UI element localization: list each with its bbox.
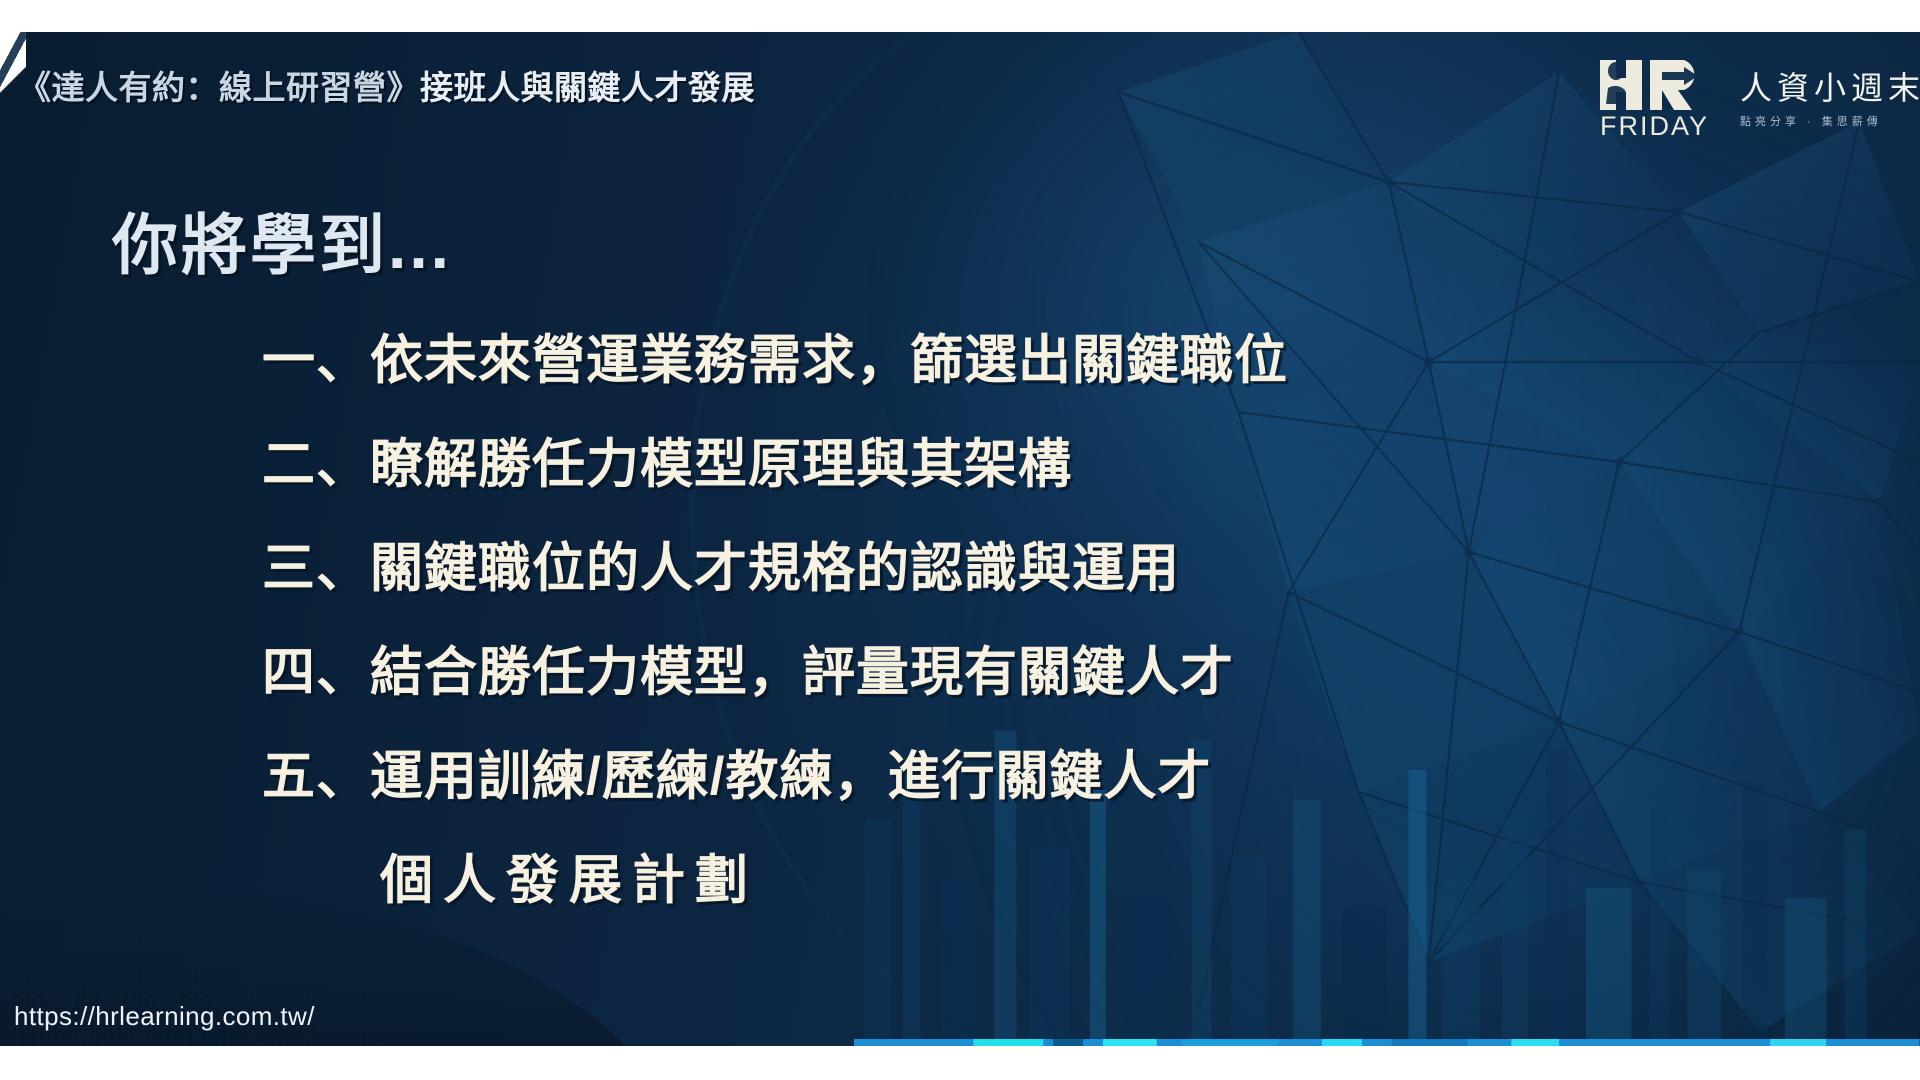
header-title-main: 接班人與關鍵人才發展 xyxy=(420,69,755,106)
learning-objectives-list: 一、依未來營運業務需求，篩選出關鍵職位 二、瞭解勝任力模型原理與其架構 三、關鍵… xyxy=(262,334,1762,907)
hr-friday-logo: FRIDAY 人資小週末 點亮分享 · 集思薪傳 xyxy=(1598,58,1898,140)
list-item: 五、運用訓練/歷練/教練，進行關鍵人才 xyxy=(262,750,1762,803)
logo-tagline: 點亮分享 · 集思薪傳 xyxy=(1740,113,1920,129)
header-title-prefix: 《達人有約：線上研習營》 xyxy=(18,69,420,106)
logo-mark: FRIDAY xyxy=(1598,58,1726,138)
header-title: 《達人有約：線上研習營》接班人與關鍵人才發展 xyxy=(18,61,755,109)
slide-header: 《達人有約：線上研習營》接班人與關鍵人才發展 xyxy=(18,54,1590,116)
list-item: 四、結合勝任力模型，評量現有關鍵人才 xyxy=(262,646,1762,699)
logo-brand-cn: 人資小週末 xyxy=(1740,72,1920,106)
list-item: 二、瞭解勝任力模型原理與其架構 xyxy=(262,438,1762,491)
presentation-slide: 《達人有約：線上研習營》接班人與關鍵人才發展 FRIDAY xyxy=(0,32,1920,1046)
screenshot-stage: 《達人有約：線上研習營》接班人與關鍵人才發展 FRIDAY xyxy=(0,0,1920,1080)
cyan-glitch-strip xyxy=(854,1039,1920,1046)
hr-monogram-icon xyxy=(1598,58,1726,112)
logo-friday-text: FRIDAY xyxy=(1600,113,1709,140)
list-item-continuation: 個人發展計劃 xyxy=(380,854,1762,907)
footer-url: https://hrlearning.com.tw/ xyxy=(14,1001,315,1032)
logo-text-block: 人資小週末 點亮分享 · 集思薪傳 xyxy=(1740,58,1920,129)
page-title: 你將學到... xyxy=(112,192,452,288)
list-item: 一、依未來營運業務需求，篩選出關鍵職位 xyxy=(262,334,1762,387)
list-item: 三、關鍵職位的人才規格的認識與運用 xyxy=(262,542,1762,595)
